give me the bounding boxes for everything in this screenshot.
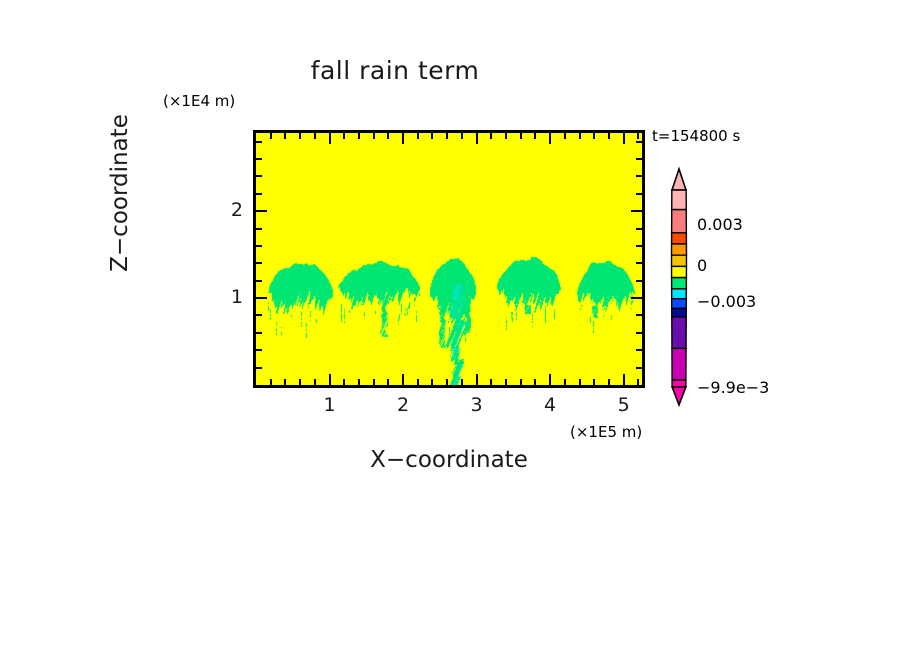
y-tick-1.6 [256,245,262,247]
x-tick-label: 5 [609,394,639,416]
x-tick-label: 3 [462,394,492,416]
x-tick-top-3.8 [534,133,536,139]
colorbar-tick-label: 0.003 [697,215,743,234]
x-tick-1.6 [373,379,375,385]
x-tick-1.4 [358,379,360,385]
y-axis-unit-label: (×1E4 m) [163,92,235,110]
y-tick-right-1.8 [636,228,642,230]
x-tick-5.2 [637,379,639,385]
x-tick-top-4.2 [564,133,566,139]
y-tick-right-0.4 [636,349,642,351]
x-tick-2.4 [431,379,433,385]
x-tick-label: 2 [388,394,418,416]
x-tick-top-4 [549,133,551,144]
colorbar-segment-8 [672,299,687,309]
y-tick-2.4 [256,175,262,177]
colorbar-tick-label: 0 [697,256,707,275]
x-axis-title: X−coordinate [253,447,645,473]
x-tick-top-2.4 [431,133,433,139]
colorbar-segment-3 [672,244,687,255]
x-axis-unit-label: (×1E5 m) [570,423,642,441]
colorbar-tick-label: −0.003 [697,292,756,311]
x-tick-top-0.2 [270,133,272,139]
time-annotation: t=154800 s [652,127,740,145]
y-tick-right-0.6 [636,332,642,334]
colorbar-segment-10 [672,317,686,349]
x-tick-label: 1 [315,394,345,416]
y-tick-right-2.8 [636,141,642,143]
x-tick-4.2 [564,379,566,385]
y-tick-label: 2 [215,199,243,221]
y-tick-right-0.8 [636,314,642,316]
x-tick-4.4 [579,379,581,385]
x-tick-5 [623,374,625,385]
y-tick-right-2.4 [636,175,642,177]
x-tick-2.2 [417,379,419,385]
x-tick-4 [549,374,551,385]
colorbar [663,165,695,410]
x-tick-2.8 [461,379,463,385]
x-tick-top-1.2 [343,133,345,139]
y-tick-0.2 [256,367,262,369]
colorbar-extend-bottom [672,387,686,405]
x-tick-2.6 [446,379,448,385]
colorbar-segment-11 [672,348,686,380]
x-tick-3.4 [505,379,507,385]
colorbar-segment-7 [672,289,687,299]
y-tick-right-2.2 [636,193,642,195]
x-tick-top-3 [476,133,478,144]
y-tick-2.6 [256,158,262,160]
colorbar-tick-label: −9.9e−3 [697,378,769,397]
x-tick-top-1.6 [373,133,375,139]
y-tick-1.8 [256,228,262,230]
y-tick-2.8 [256,141,262,143]
x-tick-0.8 [314,379,316,385]
y-tick-right-0.2 [636,367,642,369]
colorbar-segment-6 [672,278,687,289]
colorbar-segment-0 [672,190,687,210]
y-tick-right-1.4 [636,262,642,264]
x-tick-top-2.8 [461,133,463,139]
colorbar-segment-2 [672,233,687,244]
x-tick-2 [402,374,404,385]
x-tick-4.8 [608,379,610,385]
x-tick-0.4 [284,379,286,385]
y-tick-1 [256,297,267,299]
x-tick-4.6 [593,379,595,385]
x-tick-0.6 [299,379,301,385]
x-tick-0.2 [270,379,272,385]
y-tick-1.4 [256,262,262,264]
colorbar-segment-5 [672,266,687,277]
x-tick-1.8 [387,379,389,385]
x-tick-1 [329,374,331,385]
x-tick-top-3.2 [490,133,492,139]
figure-canvas: fall rain term (×1E4 m) (×1E5 m) X−coord… [0,0,904,654]
x-tick-1.2 [343,379,345,385]
y-tick-right-2 [631,210,642,212]
y-tick-right-1.2 [636,280,642,282]
x-tick-top-1 [329,133,331,144]
x-tick-top-3.6 [520,133,522,139]
x-tick-3.2 [490,379,492,385]
heatmap-field [256,133,642,385]
colorbar-segment-9 [672,308,687,316]
x-tick-label: 4 [535,394,565,416]
y-tick-2 [256,210,267,212]
y-tick-right-1 [631,297,642,299]
x-tick-top-5 [623,133,625,144]
colorbar-segment-12 [672,380,686,387]
y-tick-label: 1 [215,286,243,308]
y-tick-0.6 [256,332,262,334]
y-tick-right-1.6 [636,245,642,247]
x-tick-top-2 [402,133,404,144]
y-tick-1.2 [256,280,262,282]
colorbar-segment-1 [672,210,687,233]
colorbar-segment-4 [672,255,687,266]
x-tick-top-4.6 [593,133,595,139]
y-tick-0.8 [256,314,262,316]
y-tick-0.4 [256,349,262,351]
x-tick-top-2.6 [446,133,448,139]
colorbar-extend-top [672,169,686,190]
x-tick-top-0.6 [299,133,301,139]
x-tick-top-3.4 [505,133,507,139]
plot-area [253,130,645,388]
x-tick-top-4.8 [608,133,610,139]
x-tick-3.8 [534,379,536,385]
y-tick-2.2 [256,193,262,195]
colorbar-swatches [663,165,695,410]
x-tick-top-0.4 [284,133,286,139]
x-tick-top-5.2 [637,133,639,139]
x-tick-3 [476,374,478,385]
x-tick-top-1.8 [387,133,389,139]
x-tick-top-2.2 [417,133,419,139]
x-tick-3.6 [520,379,522,385]
x-tick-top-1.4 [358,133,360,139]
x-tick-top-0.8 [314,133,316,139]
x-tick-top-4.4 [579,133,581,139]
y-axis-title: Z−coordinate [107,63,133,323]
y-tick-right-2.6 [636,158,642,160]
